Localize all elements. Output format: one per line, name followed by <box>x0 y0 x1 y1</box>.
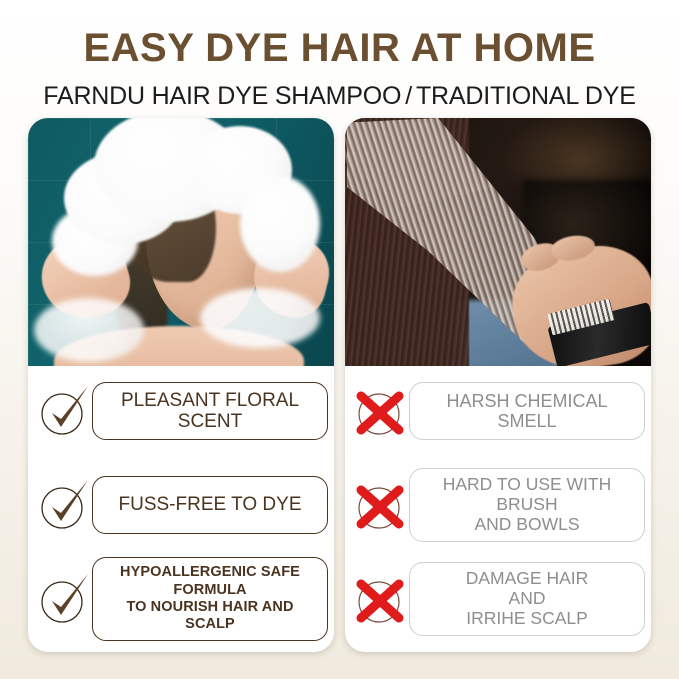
benefit-text-line: FUSS-FREE TO DYE <box>119 494 302 515</box>
photo-woman-washing-hair <box>28 118 334 366</box>
list-item: PLEASANT FLORAL SCENT <box>36 374 328 448</box>
drawback-text-line: HARD TO USE WITH <box>443 474 612 494</box>
check-circle-icon <box>36 474 92 536</box>
list-item: HARD TO USE WITH BRUSH AND BOWLS <box>353 468 645 542</box>
cross-circle-icon <box>353 380 409 442</box>
drawback-text-line: AND BOWLS <box>474 514 579 534</box>
benefit-text-line: PLEASANT FLORAL <box>121 390 299 411</box>
cross-circle-icon <box>353 568 409 630</box>
benefit-pill: PLEASANT FLORAL SCENT <box>92 382 328 440</box>
drawback-pill: HARSH CHEMICAL SMELL <box>409 382 645 440</box>
subtitle-right-label: TRADITIONAL DYE <box>416 82 636 110</box>
check-circle-icon <box>36 380 92 442</box>
panel-shampoo: PLEASANT FLORAL SCENT FUSS-FREE TO DYE <box>28 118 334 652</box>
benefit-text-line: FORMULA <box>173 582 246 598</box>
list-item: DAMAGE HAIR AND IRRIHE SCALP <box>353 562 645 636</box>
drawback-pill: DAMAGE HAIR AND IRRIHE SCALP <box>409 562 645 636</box>
header: EASY DYE HAIR AT HOME FARNDU HAIR DYE SH… <box>0 0 679 118</box>
foam-decoration <box>200 288 320 348</box>
photo-hair-dye-application <box>345 118 651 366</box>
subtitle-left-label: FARNDU HAIR DYE SHAMPOO <box>43 82 401 110</box>
benefit-list: PLEASANT FLORAL SCENT FUSS-FREE TO DYE <box>28 366 334 652</box>
benefit-text-line: SCENT <box>178 411 242 432</box>
benefit-pill: FUSS-FREE TO DYE <box>92 476 328 534</box>
drawback-text-line: DAMAGE HAIR <box>466 568 589 588</box>
benefit-text-line: TO NOURISH HAIR AND SCALP <box>126 599 293 632</box>
drawback-text-line: BRUSH <box>496 494 557 514</box>
panel-traditional-dye: HARSH CHEMICAL SMELL HARD TO USE WITH BR… <box>345 118 651 652</box>
comparison-subtitle: FARNDU HAIR DYE SHAMPOO/TRADITIONAL DYE <box>0 82 679 111</box>
check-circle-icon <box>36 568 92 630</box>
foam-decoration <box>240 176 320 272</box>
subtitle-separator: / <box>401 82 416 110</box>
page-title: EASY DYE HAIR AT HOME <box>0 26 679 71</box>
drawback-text-line: SMELL <box>497 411 556 431</box>
drawback-text-line: IRRIHE SCALP <box>466 608 588 628</box>
list-item: FUSS-FREE TO DYE <box>36 468 328 542</box>
drawback-list: HARSH CHEMICAL SMELL HARD TO USE WITH BR… <box>345 366 651 652</box>
benefit-text-line: HYPOALLERGENIC SAFE <box>120 564 300 580</box>
benefit-pill: HYPOALLERGENIC SAFE FORMULA TO NOURISH H… <box>92 557 328 641</box>
cross-circle-icon <box>353 474 409 536</box>
list-item: HARSH CHEMICAL SMELL <box>353 374 645 448</box>
drawback-text-line: AND <box>509 588 546 608</box>
drawback-pill: HARD TO USE WITH BRUSH AND BOWLS <box>409 468 645 542</box>
list-item: HYPOALLERGENIC SAFE FORMULA TO NOURISH H… <box>36 562 328 636</box>
drawback-text-line: HARSH CHEMICAL <box>446 391 607 411</box>
foam-decoration <box>34 298 144 362</box>
